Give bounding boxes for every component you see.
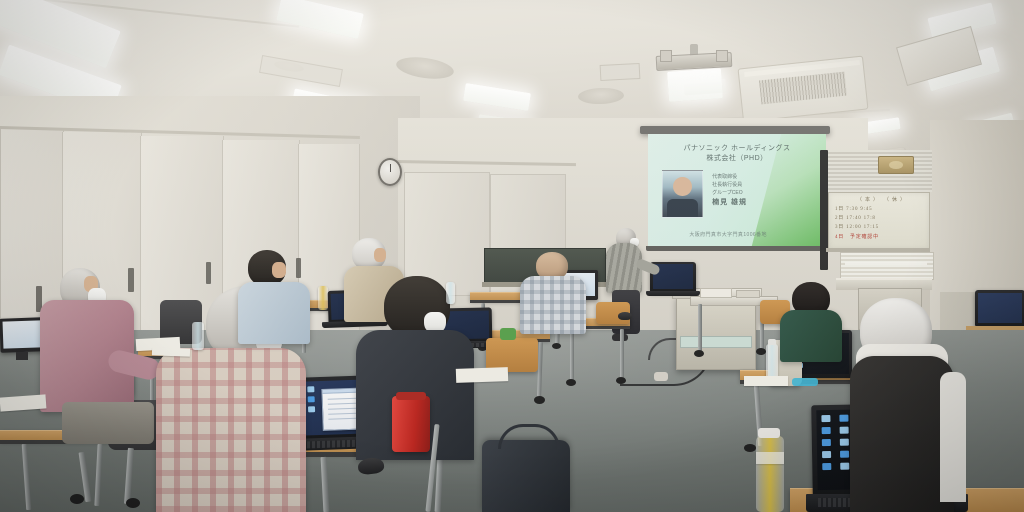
participant-face — [374, 248, 386, 262]
projector-bracket — [716, 50, 728, 62]
monitor-screen — [3, 320, 42, 348]
equipment-box — [700, 288, 732, 298]
participant-torso — [780, 310, 842, 362]
window-light-strip — [845, 262, 927, 265]
water-bottle[interactable] — [446, 282, 455, 304]
classroom-photo: パナソニック ホールディングス 株式会社（PHD） 代表取締役 社長執行役員 グ… — [0, 0, 1024, 512]
partition-handle[interactable] — [206, 262, 211, 284]
red-thermos[interactable] — [392, 396, 430, 452]
podium — [676, 296, 756, 370]
projection-screen: パナソニック ホールディングス 株式会社（PHD） 代表取締役 社長執行役員 グ… — [648, 134, 826, 248]
monitor-stand — [16, 352, 28, 360]
blue-accessory[interactable] — [792, 378, 818, 386]
handout-paper[interactable] — [456, 367, 508, 383]
ceiling-panel — [600, 63, 641, 81]
slide-title-line2: 株式会社（PHD） — [706, 155, 767, 162]
caster — [744, 444, 756, 452]
screen-bottom-bar — [646, 246, 828, 251]
speaker-name: 楠見 雄規 — [712, 199, 747, 206]
thermos-lid — [396, 392, 426, 400]
poster — [878, 156, 914, 174]
whiteboard-row: 1日 7:30 9:45 — [835, 205, 872, 212]
screen-roller — [640, 126, 830, 134]
green-item — [500, 328, 516, 340]
caster — [616, 377, 626, 384]
partition-handle[interactable] — [128, 268, 134, 292]
bottle-cap — [768, 339, 776, 345]
participant-torso — [156, 348, 306, 512]
whiteboard-row-highlight: 4日 予定確認中 — [835, 233, 879, 240]
whiteboard-frame — [820, 150, 828, 270]
speaker-details: 代表取締役 社長執行役員 グループCEO 楠見 雄規 — [712, 173, 792, 208]
speaker-role-line3: グループCEO — [712, 190, 743, 196]
water-bottle[interactable] — [766, 344, 778, 380]
participant-sleeve — [940, 372, 966, 502]
far-right-laptop[interactable] — [975, 290, 1024, 326]
whiteboard-row: 2日 17:40 17:8 — [835, 214, 876, 221]
table-leg — [698, 304, 702, 352]
caster — [70, 494, 84, 504]
tea-bottle[interactable] — [318, 286, 328, 310]
slide-title-line1: パナソニック ホールディングス — [684, 145, 791, 152]
ceiling-light-glow — [684, 79, 727, 96]
caster — [756, 348, 766, 355]
laptop-screen — [978, 293, 1022, 323]
window-blinds[interactable] — [840, 252, 934, 280]
caster — [694, 350, 704, 357]
speaker-role-line2: 社長執行役員 — [712, 182, 742, 188]
speaker-role-line1: 代表取締役 — [712, 174, 737, 180]
participant-torso — [238, 282, 310, 344]
tea-bottle[interactable] — [756, 436, 784, 512]
desk-leg — [620, 329, 624, 379]
power-adapter — [654, 372, 668, 381]
bottle-cap — [758, 428, 780, 438]
mouse[interactable] — [618, 312, 632, 320]
whiteboard-header: （本） （休） — [857, 196, 908, 203]
water-bottle[interactable] — [192, 322, 204, 350]
caster — [552, 343, 561, 349]
partition-handle[interactable] — [296, 258, 301, 278]
caster — [126, 498, 140, 508]
caster — [566, 379, 576, 386]
handout-paper[interactable] — [744, 376, 788, 386]
handout-paper[interactable] — [152, 347, 190, 356]
podium-shelf — [680, 336, 752, 348]
bottle-label — [756, 452, 784, 464]
participant-torso — [520, 276, 586, 334]
desktop-monitor[interactable] — [0, 317, 45, 353]
presenter-torso — [606, 243, 642, 293]
participant-legs — [62, 402, 154, 444]
participant-vest — [850, 356, 954, 512]
slide-footer: 大阪府門真市大字門真1006番地 — [666, 231, 791, 238]
floor-bag[interactable] — [482, 440, 570, 512]
wall-clock — [378, 158, 402, 186]
equipment-box — [736, 290, 760, 298]
participant-face — [272, 262, 286, 278]
slide-title: パナソニック ホールディングス 株式会社（PHD） — [659, 144, 816, 164]
caster — [534, 396, 545, 404]
projector-bracket — [660, 50, 672, 62]
whiteboard-row: 3日 12:00 17:15 — [835, 223, 879, 230]
desktop-icons[interactable] — [306, 384, 328, 434]
desk-leg — [570, 329, 574, 381]
whiteboard[interactable]: （本） （休） 1日 7:30 9:45 2日 17:40 17:8 3日 12… — [828, 192, 930, 250]
speaker-portrait — [662, 170, 703, 218]
